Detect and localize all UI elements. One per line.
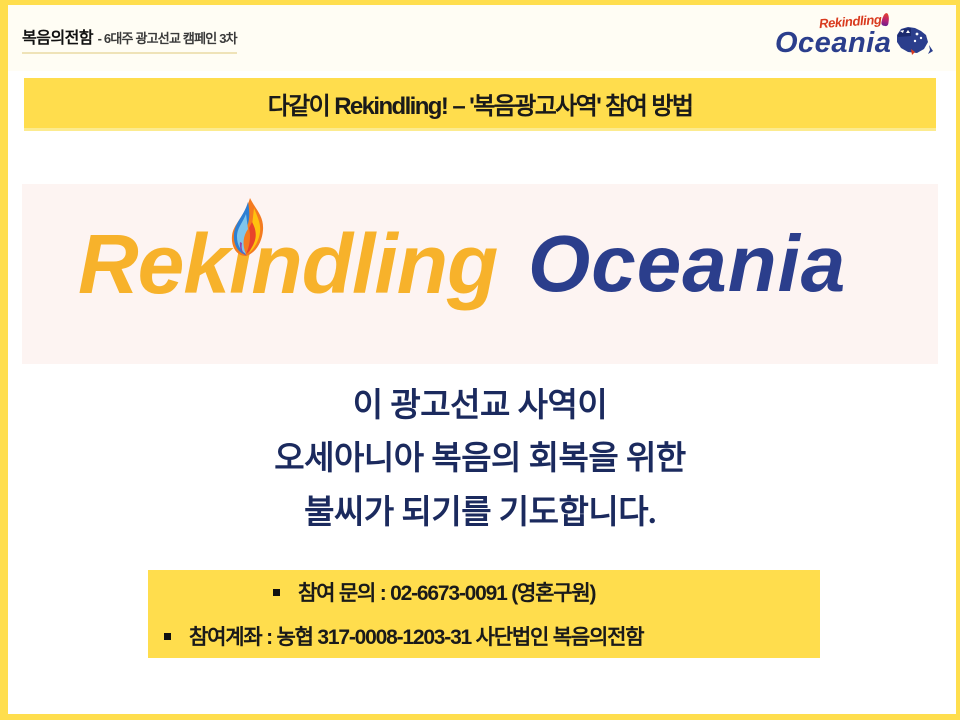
slide-border-right [956,0,960,720]
australia-map-icon [891,21,935,61]
presentation-slide: 복음의전함 - 6대주 광고선교 캠페인 3차 Rekindling Ocean… [0,0,960,720]
banner-word-oceania: Oceania [528,224,846,304]
contact-inquiry-line: 참여 문의 : 02-6673-0091 (영혼구원) [148,570,820,614]
logo-main-word: Oceania [775,27,891,60]
slide-border-top [0,0,960,5]
banner-word-rekindling: Rekindling [78,222,497,306]
bullet-square-icon [164,633,171,640]
bullet-square-icon [273,589,280,596]
prayer-line-1: 이 광고선교 사역이 [22,380,938,433]
slide-border-left [0,0,8,720]
rekindling-oceania-logo: Rekindling Oceania [767,11,942,69]
contact-inquiry-text: 참여 문의 : 02-6673-0091 (영혼구원) [298,577,595,607]
prayer-line-2: 오세아니아 복음의 회복을 위한 [22,433,938,486]
contact-info-box: 참여 문의 : 02-6673-0091 (영혼구원) 참여계좌 : 농협 31… [148,570,820,658]
prayer-line-3: 불씨가 되기를 기도합니다. [22,487,938,540]
flame-icon [881,12,890,26]
slide-border-bottom [0,714,960,720]
organization-name: 복음의전함 [22,30,93,47]
slide-title-bar: 다같이 Rekindling! – '복음광고사역' 참여 방법 [24,78,936,128]
contact-account-text: 참여계좌 : 농협 317-0008-1203-31 사단법인 복음의전함 [189,621,643,651]
prayer-statement: 이 광고선교 사역이 오세아니아 복음의 회복을 위한 불씨가 되기를 기도합니… [22,380,938,540]
header-title-group: 복음의전함 - 6대주 광고선교 캠페인 3차 [22,24,237,54]
logo-banner: Rekindling Oceania [22,184,938,364]
contact-account-line: 참여계좌 : 농협 317-0008-1203-31 사단법인 복음의전함 [148,614,820,658]
slide-title: 다같이 Rekindling! – '복음광고사역' 참여 방법 [268,86,693,121]
slide-header: 복음의전함 - 6대주 광고선교 캠페인 3차 Rekindling Ocean… [8,5,956,71]
multicolor-flame-icon [230,198,266,260]
campaign-subtitle: - 6대주 광고선교 캠페인 3차 [98,31,237,46]
